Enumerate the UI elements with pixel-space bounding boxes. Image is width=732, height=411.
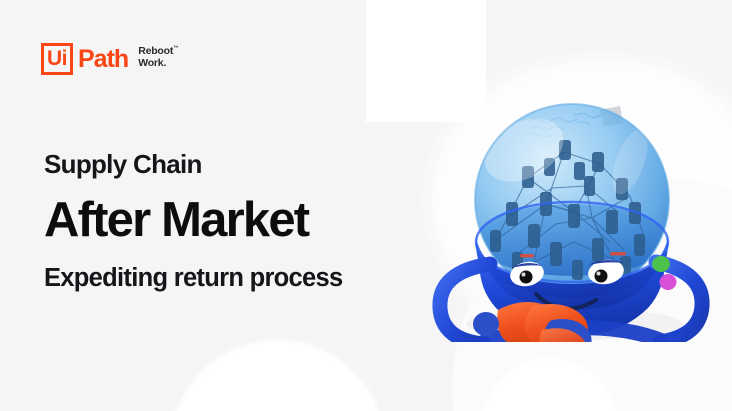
uipath-logo: Ui Path Reboot™ Work. — [41, 43, 178, 75]
robot-dome — [474, 104, 669, 296]
background-blob-bottom-left — [170, 340, 385, 411]
trademark-symbol: ™ — [173, 46, 178, 52]
accent-stripe-right — [610, 252, 626, 256]
eyebrow-label: Supply Chain — [44, 150, 343, 179]
presentation-slide: Ui Path Reboot™ Work. Supply Chain After… — [0, 0, 732, 411]
button-pink — [660, 274, 677, 290]
robot-svg — [424, 92, 714, 342]
logo-tagline: Reboot™ Work. — [138, 46, 178, 69]
logo-path-word: Path — [78, 47, 128, 72]
accent-stripe-left — [520, 254, 534, 258]
subtitle: Expediting return process — [44, 264, 343, 292]
background-blob-bottom-right — [480, 358, 620, 411]
button-green — [652, 256, 670, 272]
logo-ui-badge: Ui — [41, 43, 73, 75]
logo-tagline-line1: Reboot — [138, 45, 173, 57]
logo-mark: Ui Path — [41, 43, 128, 75]
logo-tagline-line2: Work. — [138, 57, 166, 69]
robot-mascot-illustration — [424, 92, 714, 342]
page-title: After Market — [44, 193, 343, 248]
slide-copy-block: Supply Chain After Market Expediting ret… — [44, 150, 343, 293]
tool-joint-left — [473, 312, 499, 336]
